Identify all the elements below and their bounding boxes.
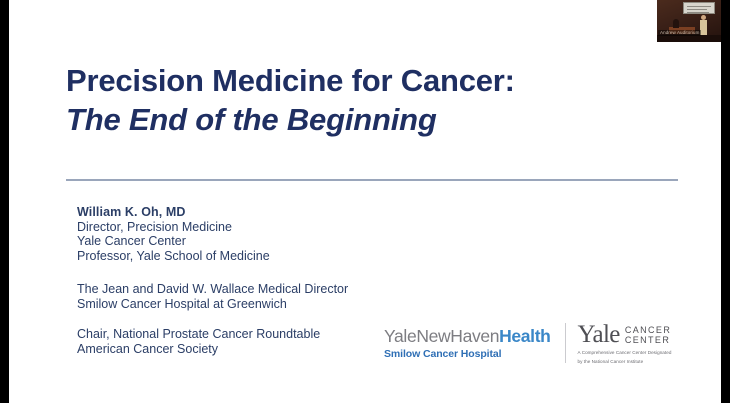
ycc-tagline-line-1: A Comprehensive Cancer Center Designated — [578, 350, 672, 356]
video-speaker-figure — [701, 15, 706, 20]
presenter-block: William K. Oh, MD Director, Precision Me… — [77, 205, 270, 263]
horizontal-divider — [66, 179, 678, 181]
slide-canvas: Precision Medicine for Cancer: The End o… — [9, 0, 721, 403]
yale-cancer-center-logo: Yale CANCER CENTER A Comprehensive Cance… — [578, 322, 672, 364]
logo-separator — [565, 323, 566, 363]
presenter-professorship: Professor, Yale School of Medicine — [77, 249, 270, 264]
ycc-center-word: CENTER — [625, 335, 671, 346]
slide-title: Precision Medicine for Cancer: The End o… — [66, 62, 686, 140]
presentation-viewer: Precision Medicine for Cancer: The End o… — [0, 0, 730, 403]
presenter-video-thumbnail[interactable]: Andrew Auditorium — [657, 0, 721, 42]
video-seated-person — [673, 19, 679, 28]
ynhh-wordmark-gray: YaleNewHaven — [384, 326, 499, 346]
appointment-line-2: Smilow Cancer Hospital at Greenwich — [77, 297, 348, 312]
ycc-cancer-center-words: CANCER CENTER — [625, 325, 671, 347]
letterbox-right — [721, 0, 730, 403]
presenter-role: Director, Precision Medicine — [77, 220, 270, 235]
video-projection-screen — [683, 2, 715, 14]
video-floor — [657, 35, 721, 42]
title-line-1: Precision Medicine for Cancer: — [66, 62, 686, 100]
yale-new-haven-health-logo: YaleNewHavenHealth Smilow Cancer Hospita… — [384, 326, 565, 361]
ynhh-wordmark-blue: Health — [499, 326, 550, 346]
presenter-name: William K. Oh, MD — [77, 205, 270, 220]
society-line-2: American Cancer Society — [77, 342, 320, 357]
video-name-label: Andrew Auditorium — [658, 30, 701, 36]
letterbox-left — [0, 0, 9, 403]
society-block: Chair, National Prostate Cancer Roundtab… — [77, 327, 320, 356]
ycc-cancer-word: CANCER — [625, 325, 671, 336]
ynhh-wordmark: YaleNewHavenHealth — [384, 326, 551, 346]
society-line-1: Chair, National Prostate Cancer Roundtab… — [77, 327, 320, 342]
ycc-tagline-line-2: by the National Cancer Institute — [578, 359, 672, 365]
ycc-wordmark: Yale CANCER CENTER — [578, 322, 672, 347]
smilow-cancer-hospital-label: Smilow Cancer Hospital — [384, 347, 551, 361]
ycc-yale-word: Yale — [578, 322, 620, 347]
appointment-line-1: The Jean and David W. Wallace Medical Di… — [77, 282, 348, 297]
appointment-block: The Jean and David W. Wallace Medical Di… — [77, 282, 348, 311]
title-line-2: The End of the Beginning — [66, 100, 686, 140]
logo-lockup: YaleNewHavenHealth Smilow Cancer Hospita… — [384, 320, 671, 366]
presenter-institution: Yale Cancer Center — [77, 234, 270, 249]
